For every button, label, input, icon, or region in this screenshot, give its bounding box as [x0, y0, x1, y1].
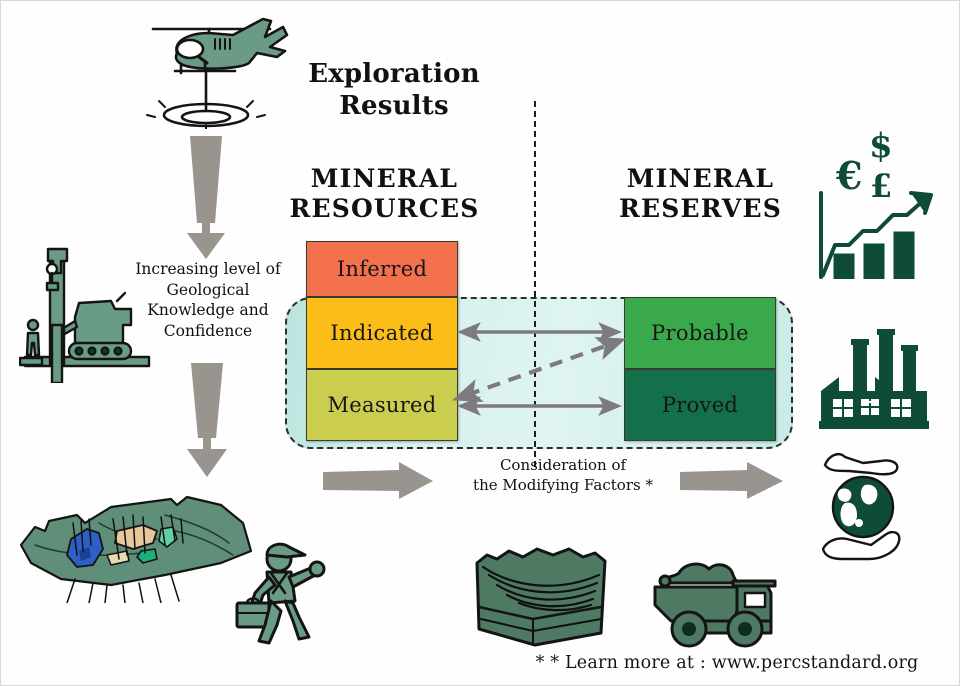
page-title-exploration-results: Exploration Results [289, 59, 499, 122]
caption-line-4: Confidence [164, 322, 252, 340]
helicopter-icon [137, 7, 317, 129]
geologist-icon [229, 539, 335, 647]
drill-rig-icon [19, 239, 155, 383]
modifying-line-2: the Modifying Factors * [473, 476, 653, 494]
reserve-box-probable[interactable]: Probable [624, 297, 776, 369]
knowledge-arrow-upper [187, 136, 225, 259]
heading-resources-line-1: MINERAL [311, 164, 458, 193]
haul-truck-icon [645, 553, 791, 651]
title-line-1: Exploration [308, 59, 480, 89]
resource-box-inferred[interactable]: Inferred [306, 241, 458, 297]
resource-box-measured[interactable]: Measured [306, 369, 458, 441]
knowledge-arrow-lower [187, 363, 227, 477]
modifying-arrow-right [680, 462, 783, 499]
heading-reserves-line-1: MINERAL [627, 164, 774, 193]
modifying-factors-caption: Consideration of the Modifying Factors * [433, 456, 693, 496]
resources-reserves-divider [534, 101, 536, 467]
factory-icon [815, 329, 957, 437]
footer-learn-more: * * Learn more at : www.percstandard.org [501, 653, 953, 673]
euro-symbol: € [835, 153, 862, 198]
resource-box-indicated[interactable]: Indicated [306, 297, 458, 369]
caption-line-1: Increasing level of [135, 260, 280, 278]
currency-growth-chart-icon: $ € £ [813, 127, 953, 279]
heading-reserves-line-2: RESERVES [619, 194, 782, 223]
geological-model-icon [15, 493, 257, 603]
globe-in-hands-icon [819, 449, 955, 579]
heading-mineral-resources: MINERAL RESOURCES [277, 164, 492, 224]
reserve-box-proved[interactable]: Proved [624, 369, 776, 441]
modifying-arrow-left [323, 462, 433, 499]
dollar-symbol: $ [869, 127, 893, 166]
open-pit-mine-icon [469, 541, 617, 649]
heading-mineral-reserves: MINERAL RESERVES [593, 164, 808, 224]
diagram-canvas: Exploration Results MINERAL RESOURCES MI… [0, 0, 960, 686]
caption-line-2: Geological [167, 281, 250, 299]
modifying-line-1: Consideration of [500, 456, 626, 474]
heading-resources-line-2: RESOURCES [289, 194, 479, 223]
title-line-2: Results [339, 91, 449, 121]
pound-symbol: £ [870, 167, 892, 205]
caption-line-3: Knowledge and [147, 301, 268, 319]
